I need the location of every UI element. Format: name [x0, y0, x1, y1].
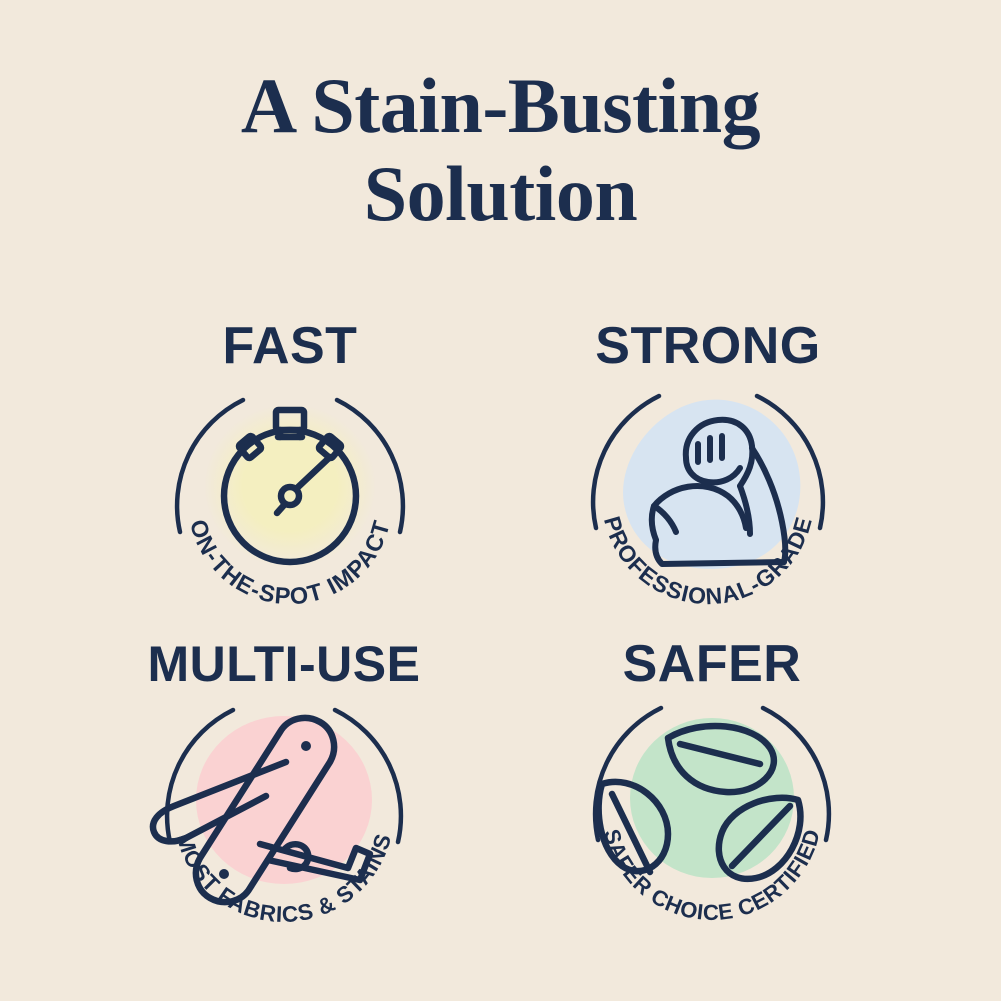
- benefit-badge-strong: STRONG: [528, 318, 888, 628]
- badge-heading-safer: SAFER: [532, 636, 892, 692]
- page-title-line-1: A Stain-Busting: [0, 62, 1001, 150]
- badge-heading-fast: FAST: [110, 318, 470, 374]
- badge-art-strong: PROFESSIONAL-GRADE: [558, 374, 858, 622]
- benefit-badge-multi-use: MULTI-USE: [104, 636, 464, 946]
- page-title: A Stain-Busting Solution: [0, 62, 1001, 238]
- benefit-badge-fast: FAST: [110, 318, 470, 628]
- badge-art-multi-use: MOST FABRICS & STAINS: [134, 692, 434, 940]
- benefit-badge-safer: SAFER: [532, 636, 892, 946]
- badge-art-safer: SAFER CHOICE CERTIFIED: [562, 692, 862, 940]
- badge-art-fast: ON-THE-SPOT IMPACT: [140, 374, 440, 622]
- page-title-line-2: Solution: [0, 150, 1001, 238]
- badge-heading-multi-use: MULTI-USE: [104, 636, 464, 692]
- badge-heading-strong: STRONG: [528, 318, 888, 374]
- blob-shape-pink: [196, 716, 372, 884]
- benefit-badge-grid: FAST: [0, 318, 1001, 978]
- infographic-page: A Stain-Busting Solution FAST: [0, 0, 1001, 1001]
